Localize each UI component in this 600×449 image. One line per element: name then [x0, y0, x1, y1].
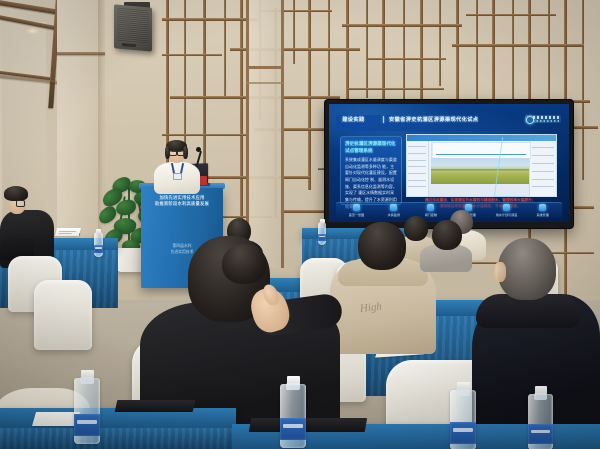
attendee-behind-front-center — [216, 244, 282, 306]
display-screen[interactable]: 建设实践 安徽省淠史杭灌区淠源渠现代化试点 淠史杭灌区淠源渠现代化 试点管理系统… — [329, 104, 569, 222]
water-bottle-front-right-1 — [450, 390, 476, 449]
nav-label-0: 首页一张图 — [338, 212, 374, 217]
nav-label-4: 用水计划与调度 — [486, 212, 527, 217]
schedule-icon — [503, 204, 510, 211]
settings-icon — [539, 204, 546, 211]
column-mid-trim-r — [281, 0, 284, 268]
institute-logo — [525, 115, 561, 123]
nav-label-5: 系统管理 — [526, 212, 560, 217]
dashboard-left-pane — [407, 141, 429, 197]
dashboard-right-pane — [529, 141, 555, 197]
presenter — [152, 140, 202, 192]
attendee-glasses — [16, 200, 25, 207]
water-bottle-1 — [94, 232, 103, 257]
wall-mounted-display[interactable]: 建设实践 安徽省淠史杭灌区淠源渠现代化试点 淠史杭灌区淠源渠现代化 试点管理系统… — [325, 100, 573, 228]
ceiling-speaker-icon — [114, 4, 152, 51]
attendee-front-right-head — [498, 238, 556, 300]
column-mid-band — [247, 66, 283, 69]
nav-item-4[interactable]: 用水计划与调度 — [486, 204, 527, 217]
podium-headline: 加快先进实用技术应用 助推新阶段水利高质量发展 — [141, 195, 223, 207]
podium-headline-line1: 加快先进实用技术应用 — [160, 195, 205, 200]
home-icon — [353, 204, 360, 211]
dark-folder-left — [115, 400, 196, 412]
water-icon — [390, 204, 397, 211]
attendee-between-head — [432, 220, 462, 250]
podium-headline-line2: 助推新阶段水利高质量发展 — [155, 201, 209, 206]
nav-item-0[interactable]: 首页一张图 — [338, 204, 374, 217]
panel-heading-line2: 试点管理系统 — [345, 148, 373, 153]
logo-text-top — [533, 116, 559, 119]
attendee-mid-left-hair — [4, 186, 28, 201]
badge — [173, 173, 182, 180]
gate-icon — [427, 204, 434, 211]
presenter-glasses-right — [177, 150, 185, 156]
presenter-glasses-left — [169, 150, 177, 156]
logo-text-bottom — [533, 120, 559, 123]
attendee-mid-left — [0, 184, 62, 264]
table-skirt-front-left — [0, 428, 236, 449]
dashboard-screenshot — [406, 134, 557, 197]
column-mid-band2 — [247, 82, 283, 84]
attendee-behind-head — [222, 244, 266, 284]
paper-front-left — [32, 412, 80, 426]
water-bottle-front-right-2 — [528, 394, 553, 449]
ceiling-light-1 — [26, 28, 39, 34]
slide-title-right: 安徽省淠史杭灌区淠源渠现代化试点 — [389, 116, 478, 123]
nav-item-5[interactable]: 系统管理 — [526, 204, 560, 217]
ear-left — [494, 262, 506, 282]
water-bottle-front-left — [74, 378, 100, 444]
presentation-slide: 建设实践 安徽省淠史杭灌区淠源渠现代化试点 淠史杭灌区淠源渠现代化 试点管理系统… — [329, 104, 569, 222]
slide-title-divider — [383, 116, 384, 122]
slide-title-left: 建设实践 — [342, 116, 364, 123]
dark-folder-right — [249, 418, 367, 432]
attendee-between — [420, 220, 472, 264]
slide-info-panel: 淠史杭灌区淠源渠现代化 试点管理系统 系统集成灌区水量调度与渠道自动化监测等多种… — [340, 136, 402, 205]
panel-heading-line1: 淠史杭灌区淠源渠现代化 — [345, 141, 396, 146]
conference-room-scene: 建设实践 安徽省淠史杭灌区淠源渠现代化试点 淠史杭灌区淠源渠现代化 试点管理系统… — [0, 0, 600, 449]
attendee-mid-center-head — [358, 222, 406, 270]
panel-heading: 淠史杭灌区淠源渠现代化 试点管理系统 — [345, 140, 397, 154]
water-bottle-front-center — [280, 384, 306, 448]
column-trim — [57, 52, 105, 55]
